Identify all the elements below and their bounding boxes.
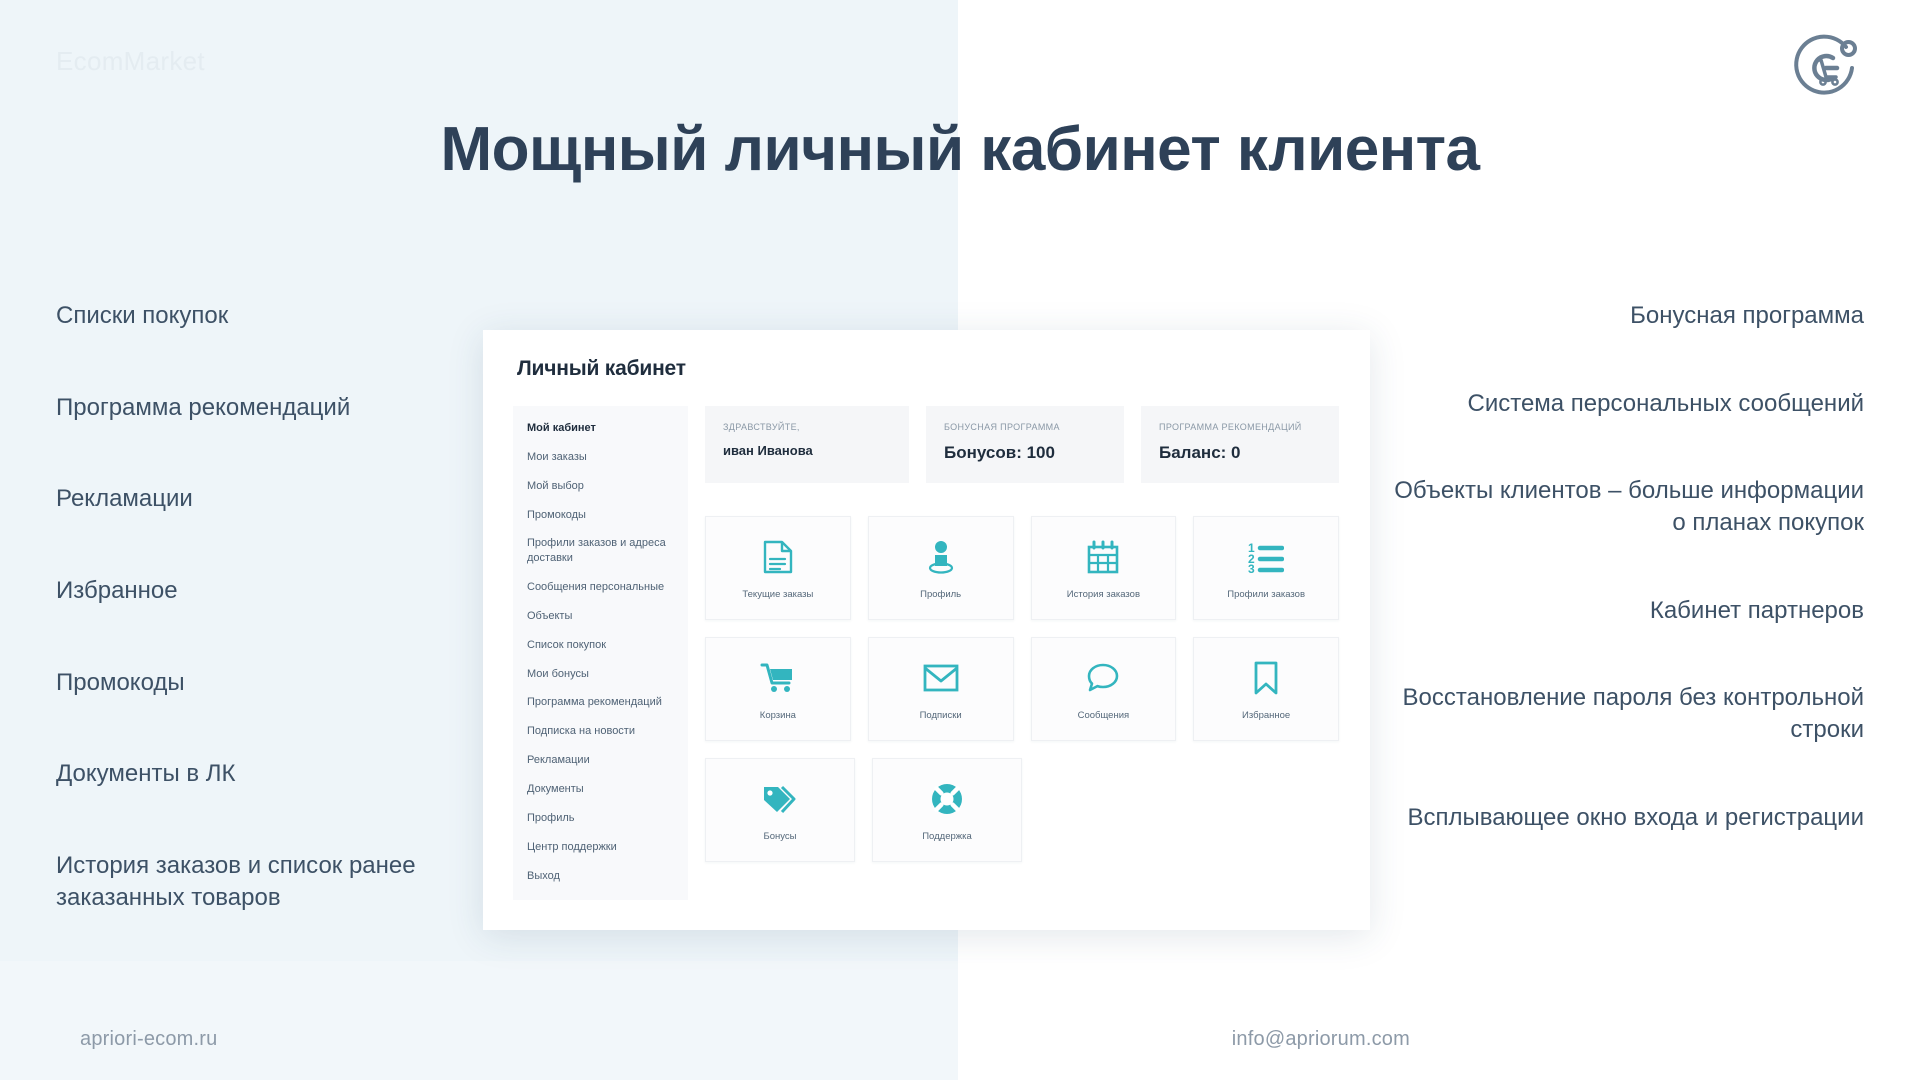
life-ring-icon [930, 778, 964, 820]
sidebar-item-my-account[interactable]: Мой кабинет [513, 414, 688, 443]
tile-bonuses[interactable]: Бонусы [705, 758, 855, 862]
sidebar-item-documents[interactable]: Документы [513, 775, 688, 804]
sidebar-item-shopping-list[interactable]: Список покупок [513, 631, 688, 660]
document-icon [763, 536, 793, 578]
sidebar-item-objects[interactable]: Объекты [513, 602, 688, 631]
background-footer-panel [0, 961, 958, 1080]
tile-cart[interactable]: Корзина [705, 637, 851, 741]
tile-order-history[interactable]: История заказов [1031, 516, 1177, 620]
sidebar-item-referral-program[interactable]: Программа рекомендаций [513, 688, 688, 717]
tile-label: Текущие заказы [742, 589, 813, 600]
chat-bubble-icon [1086, 657, 1120, 699]
tile-label: История заказов [1067, 589, 1140, 600]
page-title: Мощный личный кабинет клиента [0, 116, 1920, 184]
sidebar-item-newsletter[interactable]: Подписка на новости [513, 717, 688, 746]
feature-item: Документы в ЛК [56, 758, 476, 790]
tile-current-orders[interactable]: Текущие заказы [705, 516, 851, 620]
bonus-program-label: БОНУСНАЯ ПРОГРАММА [944, 422, 1106, 432]
tile-label: Избранное [1242, 710, 1290, 721]
bonus-program-card: БОНУСНАЯ ПРОГРАММА Бонусов: 100 [926, 406, 1124, 483]
tile-label: Профили заказов [1227, 589, 1305, 600]
dashboard-info-row: ЗДРАВСТВУЙТЕ, иван Иванова БОНУСНАЯ ПРОГ… [705, 406, 1339, 483]
feature-list-right: Бонусная программа Система персональных … [1384, 300, 1864, 889]
tile-profile[interactable]: Профиль [868, 516, 1014, 620]
tile-support[interactable]: Поддержка [872, 758, 1022, 862]
tile-label: Профиль [920, 589, 961, 600]
tile-label: Сообщения [1078, 710, 1130, 721]
referral-program-label: ПРОГРАММА РЕКОМЕНДАЦИЙ [1159, 422, 1321, 432]
greeting-card: ЗДРАВСТВУЙТЕ, иван Иванова [705, 406, 909, 483]
dashboard-title: Личный кабинет [517, 357, 686, 381]
feature-item: Рекламации [56, 483, 476, 515]
feature-item: Избранное [56, 575, 476, 607]
balance-value: Баланс: 0 [1159, 443, 1321, 463]
feature-list-left: Списки покупок Программа рекомендаций Ре… [56, 300, 476, 973]
feature-item: Бонусная программа [1384, 300, 1864, 332]
dashboard-sidebar: Мой кабинет Мои заказы Мой выбор Промоко… [513, 406, 688, 900]
dashboard-preview-card: Личный кабинет Мой кабинет Мои заказы Мо… [483, 330, 1370, 930]
feature-item: Система персональных сообщений [1384, 388, 1864, 420]
sidebar-item-claims[interactable]: Рекламации [513, 746, 688, 775]
person-icon [925, 536, 957, 578]
tile-row: Бонусы Поддержка [705, 758, 1339, 862]
sidebar-item-support-center[interactable]: Центр поддержки [513, 833, 688, 862]
feature-item: Восстановление пароля без контрольной ст… [1384, 682, 1864, 745]
sidebar-item-my-orders[interactable]: Мои заказы [513, 443, 688, 472]
sidebar-item-logout[interactable]: Выход [513, 862, 688, 891]
tile-row: Корзина Подписки Сообщения [705, 637, 1339, 741]
sidebar-item-my-bonuses[interactable]: Мои бонусы [513, 660, 688, 689]
dashboard-tile-grid: Текущие заказы Профиль История заказов [705, 516, 1339, 879]
feature-item: Кабинет партнеров [1384, 595, 1864, 627]
feature-item: Объекты клиентов – больше информации о п… [1384, 475, 1864, 538]
feature-item: История заказов и список ранее заказанны… [56, 850, 476, 913]
greeting-label: ЗДРАВСТВУЙТЕ, [723, 422, 891, 432]
envelope-icon [923, 657, 959, 699]
shopping-cart-icon [760, 657, 796, 699]
tile-messages[interactable]: Сообщения [1031, 637, 1177, 741]
svg-text:3: 3 [1248, 562, 1255, 573]
sidebar-item-profile[interactable]: Профиль [513, 804, 688, 833]
tile-subscriptions[interactable]: Подписки [868, 637, 1014, 741]
tile-label: Корзина [760, 710, 796, 721]
sidebar-item-order-profiles[interactable]: Профили заказов и адреса доставки [513, 529, 688, 573]
feature-item: Программа рекомендаций [56, 392, 476, 424]
brand-wordmark: EcomMarket [56, 46, 205, 77]
referral-program-card: ПРОГРАММА РЕКОМЕНДАЦИЙ Баланс: 0 [1141, 406, 1339, 483]
tile-label: Подписки [920, 710, 962, 721]
sidebar-item-my-choice[interactable]: Мой выбор [513, 472, 688, 501]
tile-favorites[interactable]: Избранное [1193, 637, 1339, 741]
bookmark-icon [1253, 657, 1279, 699]
tags-icon [761, 778, 799, 820]
tile-label: Бонусы [764, 831, 797, 842]
slide-canvas: EcomMarket Мощный личный кабинет клиента… [0, 0, 1920, 1080]
footer-email[interactable]: info@apriorum.com [1232, 1028, 1410, 1051]
bonus-value: Бонусов: 100 [944, 443, 1106, 463]
user-name: иван Иванова [723, 443, 891, 458]
tile-order-profiles[interactable]: 123 Профили заказов [1193, 516, 1339, 620]
sidebar-item-promocodes[interactable]: Промокоды [513, 501, 688, 530]
feature-item: Списки покупок [56, 300, 476, 332]
tile-row: Текущие заказы Профиль История заказов [705, 516, 1339, 620]
tile-label: Поддержка [922, 831, 972, 842]
sidebar-item-personal-messages[interactable]: Сообщения персональные [513, 573, 688, 602]
cart-circle-logo-icon [1790, 30, 1864, 104]
feature-item: Всплывающее окно входа и регистрации [1384, 802, 1864, 834]
numbered-list-icon: 123 [1248, 536, 1284, 578]
footer-site-url[interactable]: apriori-ecom.ru [80, 1028, 217, 1051]
calendar-icon [1086, 536, 1120, 578]
feature-item: Промокоды [56, 667, 476, 699]
